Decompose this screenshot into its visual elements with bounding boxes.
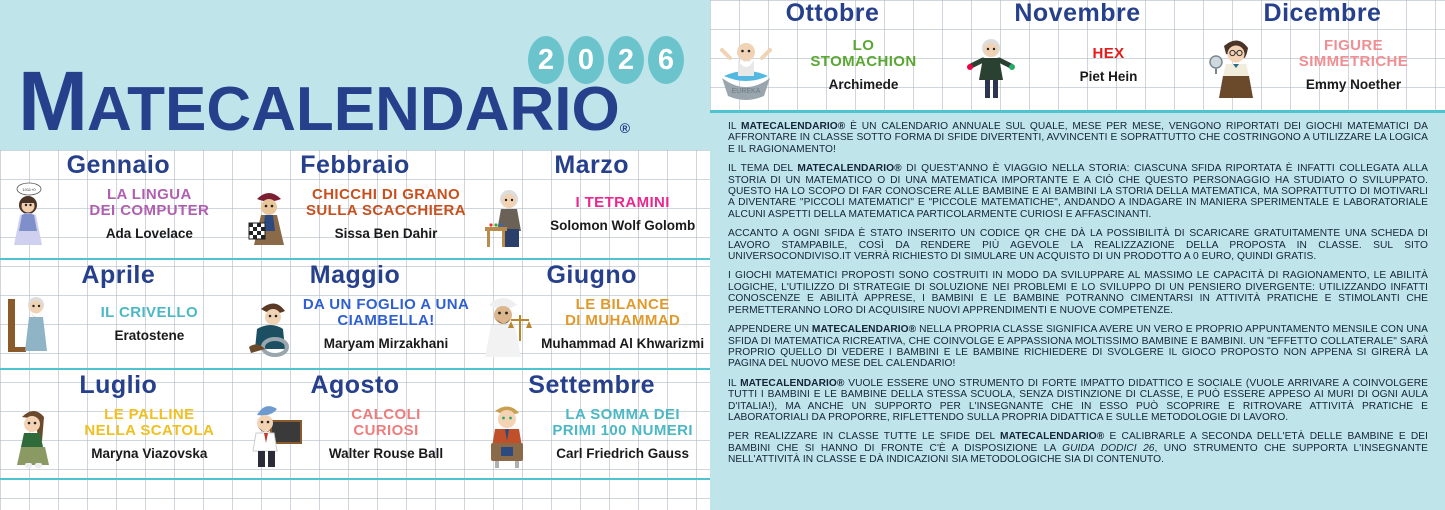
year-digit: 6	[648, 36, 684, 84]
p2-prefix: IL TEMA DEL	[728, 163, 797, 174]
month-row: Gennaio 1011+0 LA LINGUA DEI COMPUTER Ad…	[0, 150, 710, 260]
month-person: Maryna Viazovska	[66, 446, 233, 461]
month-person: Archimede	[776, 77, 951, 92]
month-cell-agosto[interactable]: Agosto CALCOLI CURIOSI Walter Rouse Ball	[237, 370, 474, 478]
month-person: Muhammad Al Khwarizmi	[539, 336, 706, 351]
registered-mark-icon: ®	[620, 120, 630, 136]
paragraph-3: ACCANTO A OGNI SFIDA È STATO INSERITO UN…	[728, 228, 1428, 262]
paragraph-5: APPENDERE UN MATECALENDARIO® NELLA PROPR…	[728, 324, 1428, 370]
p7-brand: MATECALENDARIO®	[1000, 431, 1104, 442]
month-title: DA UN FOGLIO A UNA CIAMBELLA!	[303, 297, 470, 329]
month-title: CHICCHI DI GRANO SULLA SCACCHIERA	[303, 187, 470, 219]
sissa-ben-dahir-character-icon	[243, 179, 303, 249]
paragraph-7: PER REALIZZARE IN CLASSE TUTTE LE SFIDE …	[728, 431, 1428, 465]
month-row: Luglio LE PALLINE NELLA SCATOLA Maryna V…	[0, 370, 710, 480]
month-person: Carl Friedrich Gauss	[539, 446, 706, 461]
svg-text:EUREKA: EUREKA	[732, 88, 761, 95]
month-name: Luglio	[0, 372, 237, 398]
ada-lovelace-character-icon: 1011+0	[6, 179, 66, 249]
month-title: CALCOLI CURIOSI	[303, 407, 470, 439]
paragraph-4: I GIOCHI MATEMATICI PROPOSTI SONO COSTRU…	[728, 270, 1428, 316]
month-cell-aprile[interactable]: Aprile IL CRIVELLO Eratostene	[0, 260, 237, 368]
p7-prefix: PER REALIZZARE IN CLASSE TUTTE LE SFIDE …	[728, 431, 1000, 442]
p1-prefix: IL	[728, 121, 741, 132]
month-person: Eratostene	[66, 328, 233, 343]
maryam-mirzakhani-character-icon	[243, 289, 303, 359]
p2-brand: MATECALENDARIO®	[797, 163, 901, 174]
month-cell-marzo[interactable]: Marzo I TETRAMINI Solomon Wolf Golomb	[473, 150, 710, 258]
months-grid: Gennaio 1011+0 LA LINGUA DEI COMPUTER Ad…	[0, 150, 710, 510]
months-grid-right: Ottobre EUREKA LO STOMACHION Archimede N…	[710, 0, 1445, 113]
month-title: IL CRIVELLO	[66, 305, 233, 321]
svg-text:1011+0: 1011+0	[22, 187, 36, 192]
month-cell-maggio[interactable]: Maggio DA UN FOGLIO A UNA CIAMBELLA! Mar…	[237, 260, 474, 368]
right-panel: Ottobre EUREKA LO STOMACHION Archimede N…	[710, 0, 1445, 510]
month-title: LA LINGUA DEI COMPUTER	[66, 187, 233, 219]
p6-prefix: IL	[728, 378, 740, 389]
month-cell-gennaio[interactable]: Gennaio 1011+0 LA LINGUA DEI COMPUTER Ad…	[0, 150, 237, 258]
month-name: Marzo	[473, 152, 710, 178]
month-name: Novembre	[955, 0, 1200, 26]
month-cell-ottobre[interactable]: Ottobre EUREKA LO STOMACHION Archimede	[710, 0, 955, 110]
maryna-viazovska-character-icon	[6, 399, 66, 469]
month-cell-luglio[interactable]: Luglio LE PALLINE NELLA SCATOLA Maryna V…	[0, 370, 237, 478]
paragraph-2: IL TEMA DEL MATECALENDARIO® DI QUEST'ANN…	[728, 163, 1428, 220]
matecalendario-poster: 2 0 2 6 MATECALENDARIO® Gennaio 1011+0	[0, 0, 1445, 510]
piet-hein-character-icon	[961, 30, 1021, 100]
month-person: Piet Hein	[1021, 69, 1196, 84]
month-cell-febbraio[interactable]: Febbraio CHICCHI DI GRANO SULLA SCACCHIE…	[237, 150, 474, 258]
p1-brand: MATECALENDARIO®	[741, 121, 845, 132]
p5-prefix: APPENDERE UN	[728, 324, 812, 335]
month-title: LE BILANCE DI MUHAMMAD	[539, 297, 706, 329]
month-cell-giugno[interactable]: Giugno LE BILANCE DI MUHAMMAD Muhammad A…	[473, 260, 710, 368]
month-person: Ada Lovelace	[66, 226, 233, 241]
logo-wordmark: ATECALENDARIO	[87, 85, 620, 136]
paragraph-1: IL MATECALENDARIO® È UN CALENDARIO ANNUA…	[728, 121, 1428, 155]
month-title: FIGURE SIMMETRICHE	[1266, 38, 1441, 70]
month-row: Aprile IL CRIVELLO Eratostene Maggio	[0, 260, 710, 370]
month-title: LO STOMACHION	[776, 38, 951, 70]
p6-brand: MATECALENDARIO®	[740, 378, 844, 389]
month-person: Sissa Ben Dahir	[303, 226, 470, 241]
month-cell-novembre[interactable]: Novembre HEX Piet Hein	[955, 0, 1200, 110]
eratostene-character-icon	[6, 289, 66, 359]
month-person: Walter Rouse Ball	[303, 446, 470, 461]
month-title: I TETRAMINI	[539, 195, 706, 211]
walter-rouse-ball-character-icon	[243, 399, 303, 469]
month-name: Settembre	[473, 372, 710, 398]
description-copy: IL MATECALENDARIO® È UN CALENDARIO ANNUA…	[710, 113, 1445, 466]
month-title: HEX	[1021, 46, 1196, 62]
month-name: Agosto	[237, 372, 474, 398]
month-cell-settembre[interactable]: Settembre LA SOMMA DEI PRIMI 100 NUMERI …	[473, 370, 710, 478]
month-name: Ottobre	[710, 0, 955, 26]
month-title: LA SOMMA DEI PRIMI 100 NUMERI	[539, 407, 706, 439]
emmy-noether-character-icon	[1206, 30, 1266, 100]
month-name: Maggio	[237, 262, 474, 288]
month-title: LE PALLINE NELLA SCATOLA	[66, 407, 233, 439]
left-panel: 2 0 2 6 MATECALENDARIO® Gennaio 1011+0	[0, 0, 710, 510]
archimede-character-icon: EUREKA	[716, 30, 776, 100]
month-name: Febbraio	[237, 152, 474, 178]
carl-gauss-character-icon	[479, 399, 539, 469]
solomon-golomb-character-icon	[479, 179, 539, 249]
month-name: Dicembre	[1200, 0, 1445, 26]
logo-band: 2 0 2 6 MATECALENDARIO®	[0, 0, 710, 150]
p5-brand: MATECALENDARIO®	[812, 324, 916, 335]
month-cell-dicembre[interactable]: Dicembre FIGURE SIMMETRICHE Emmy Noether	[1200, 0, 1445, 110]
paragraph-6: IL MATECALENDARIO® VUOLE ESSERE UNO STRU…	[728, 378, 1428, 424]
month-person: Maryam Mirzakhani	[303, 336, 470, 351]
logo-initial: M	[18, 67, 87, 136]
p7-guide-title: GUIDA DODICI 26	[1062, 443, 1154, 454]
month-person: Emmy Noether	[1266, 77, 1441, 92]
month-person: Solomon Wolf Golomb	[539, 218, 706, 233]
al-khwarizmi-character-icon	[479, 289, 539, 359]
brand-logo: MATECALENDARIO®	[18, 67, 630, 136]
month-name: Giugno	[473, 262, 710, 288]
month-name: Gennaio	[0, 152, 237, 178]
month-name: Aprile	[0, 262, 237, 288]
